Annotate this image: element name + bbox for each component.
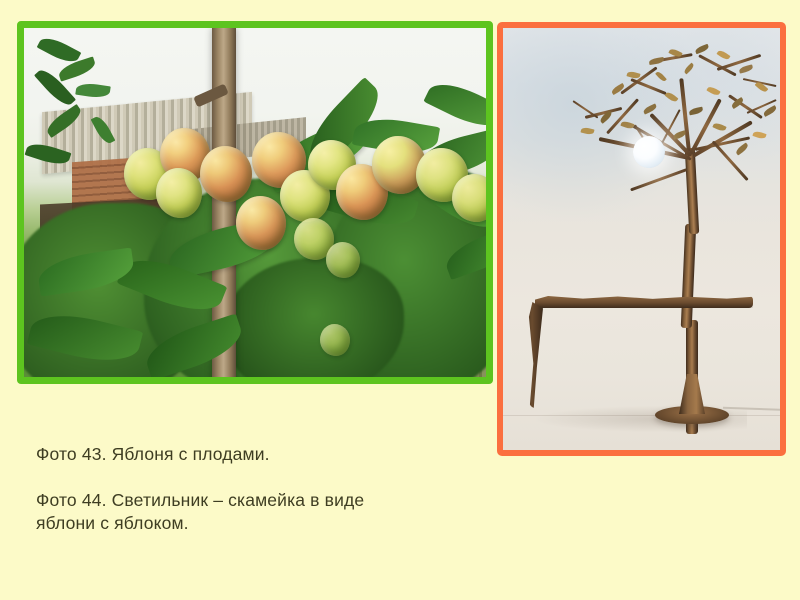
apple-fruit [236, 196, 286, 250]
apple-fruit [200, 146, 252, 202]
caption-photo-43: Фото 43. Яблоня с плодами. [36, 443, 270, 466]
glowing-apple-lamp [633, 136, 665, 168]
photo-43-content [24, 28, 486, 377]
photo-apple-tree-with-fruit[interactable] [17, 21, 493, 384]
apple-fruit [326, 242, 360, 278]
photo-44-content [503, 28, 780, 450]
slide-canvas: Фото 43. Яблоня с плодами. Фото 44. Свет… [0, 0, 800, 600]
apple-fruit [156, 168, 202, 218]
studio-background [503, 28, 780, 450]
apple-fruit [320, 324, 350, 356]
photo-lamp-bench-apple-tree[interactable] [497, 22, 786, 456]
caption-photo-44: Фото 44. Светильник – скамейка в виде яб… [36, 489, 456, 535]
